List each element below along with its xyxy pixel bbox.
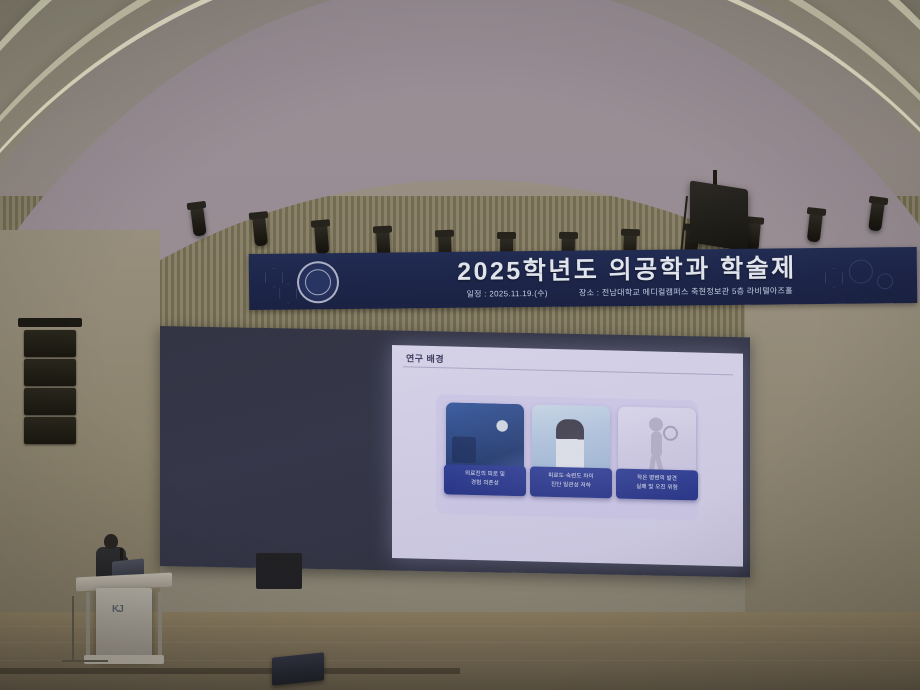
floor-cable	[72, 596, 74, 662]
banner-hex-decor	[265, 268, 283, 288]
stage-light	[314, 224, 329, 255]
caption-line: 실패 및 오진 위험	[618, 482, 696, 492]
university-emblem-icon	[297, 261, 339, 303]
speaker-fly-bar	[18, 318, 82, 327]
magnifier-icon	[663, 426, 678, 441]
speaker-box	[24, 388, 76, 415]
slide-card: 작은 병변의 발견 실패 및 오진 위험	[618, 407, 696, 513]
event-banner: 2025학년도 의공학과 학술제 일정 : 2025.11.19.(수) 장소 …	[249, 247, 918, 310]
podium	[96, 588, 152, 660]
presentation-slide: 연구 배경 의료진의 피로 및 경험 의존성 피로도·숙련도 차이 진단 일관성…	[392, 345, 743, 567]
slide-card: 의료진의 피로 및 경험 의존성	[446, 402, 524, 508]
slide-card-caption: 작은 병변의 발견 실패 및 오진 위험	[616, 468, 698, 500]
figure-icon	[644, 417, 668, 474]
speaker-box	[24, 330, 76, 357]
banner-date: 일정 : 2025.11.19.(수)	[466, 289, 548, 299]
figure-head	[649, 417, 663, 431]
presenter-head	[104, 534, 118, 549]
emblem-inner-ring	[305, 269, 331, 295]
slide-card-caption: 피로도·숙련도 차이 진단 일관성 저하	[530, 466, 612, 498]
podium-leg	[86, 592, 90, 658]
banner-title: 2025학년도 의공학과 학술제	[357, 251, 897, 289]
banner-place: 장소 : 전남대학교 메디컬캠퍼스 축현정보관 5층 라비텔아즈홀	[579, 286, 793, 297]
slide-title-divider	[403, 366, 733, 375]
slide-card: 피로도·숙련도 차이 진단 일관성 저하	[532, 404, 610, 510]
banner-hex-decor	[279, 283, 297, 303]
floor-cable	[62, 660, 108, 662]
flown-speaker	[690, 180, 748, 251]
slide-title: 연구 배경	[406, 351, 444, 365]
podium-leg	[158, 592, 162, 658]
caption-line: 경험 의존성	[446, 478, 524, 488]
wall-dark-panel	[256, 553, 302, 589]
podium-logo: KJ	[112, 604, 134, 618]
figure-body	[651, 431, 662, 457]
microphone-icon	[120, 548, 123, 560]
caption-line: 진단 일관성 저하	[532, 480, 610, 490]
stage-edge	[0, 668, 460, 674]
slide-card-group: 의료진의 피로 및 경험 의존성 피로도·숙련도 차이 진단 일관성 저하	[436, 394, 698, 520]
stage-monitor-speaker	[272, 652, 324, 685]
speaker-box	[24, 359, 76, 386]
line-array-speaker	[22, 318, 78, 446]
slide-card-caption: 의료진의 피로 및 경험 의존성	[444, 464, 526, 496]
auditorium-photo: 2025학년도 의공학과 학술제 일정 : 2025.11.19.(수) 장소 …	[0, 0, 920, 690]
speaker-box	[24, 417, 76, 444]
